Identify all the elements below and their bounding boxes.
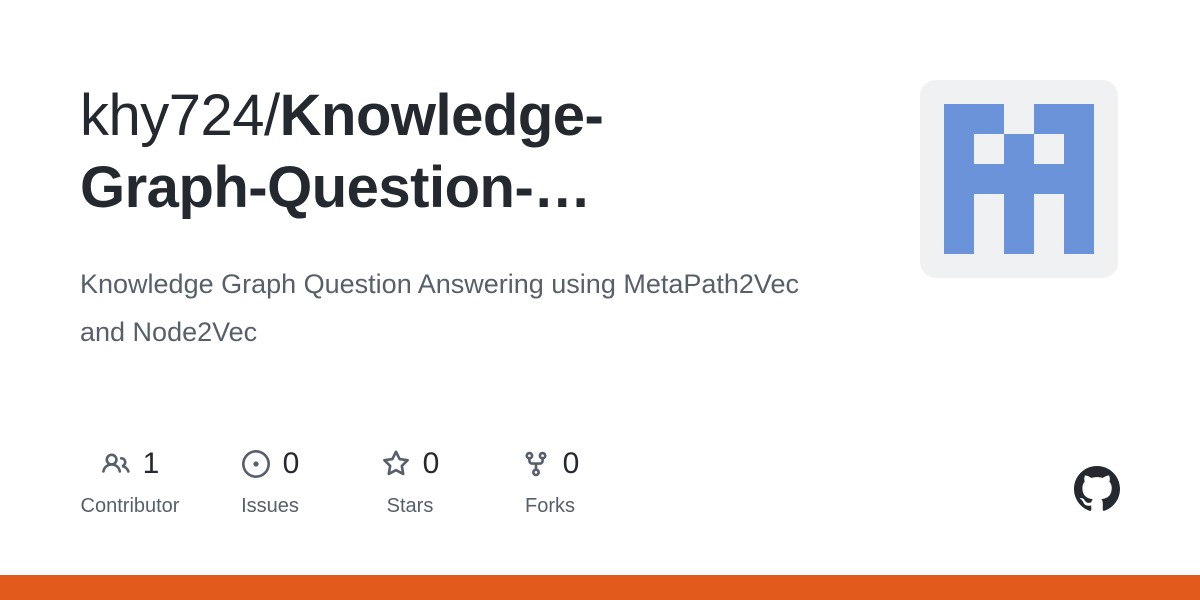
- stat-contributors: 1 Contributor: [80, 444, 180, 516]
- stat-issues-label: Issues: [241, 496, 299, 516]
- stat-forks-top: 0: [521, 444, 580, 484]
- page-title: khy724/Knowledge-Graph-Question-…: [80, 80, 780, 224]
- issue-opened-icon: [241, 449, 271, 479]
- identicon-avatar-icon: [944, 104, 1094, 254]
- repository-header: khy724/Knowledge-Graph-Question-… Knowle…: [80, 80, 860, 356]
- stat-forks-value: 0: [563, 449, 580, 479]
- stat-forks-label: Forks: [525, 496, 575, 516]
- stat-contributors-value: 1: [143, 449, 160, 479]
- people-icon: [101, 449, 131, 479]
- stat-issues-top: 0: [241, 444, 300, 484]
- repository-owner: khy724/: [80, 83, 280, 148]
- star-icon: [381, 449, 411, 479]
- stat-issues-value: 0: [283, 449, 300, 479]
- repository-description: Knowledge Graph Question Answering using…: [80, 260, 800, 356]
- stat-stars-top: 0: [381, 444, 440, 484]
- repository-stats: 1 Contributor 0 Issues: [80, 444, 640, 516]
- avatar: [920, 80, 1118, 278]
- accent-footer-bar: [0, 575, 1200, 600]
- stat-stars: 0 Stars: [360, 444, 460, 516]
- stat-stars-value: 0: [423, 449, 440, 479]
- stat-contributors-top: 1: [101, 444, 160, 484]
- repo-forked-icon: [521, 449, 551, 479]
- stat-stars-label: Stars: [387, 496, 434, 516]
- github-mark-icon: [1074, 466, 1120, 512]
- stat-issues: 0 Issues: [220, 444, 320, 516]
- stat-forks: 0 Forks: [500, 444, 600, 516]
- stat-contributors-label: Contributor: [81, 496, 180, 516]
- repository-social-card: khy724/Knowledge-Graph-Question-… Knowle…: [0, 0, 1200, 600]
